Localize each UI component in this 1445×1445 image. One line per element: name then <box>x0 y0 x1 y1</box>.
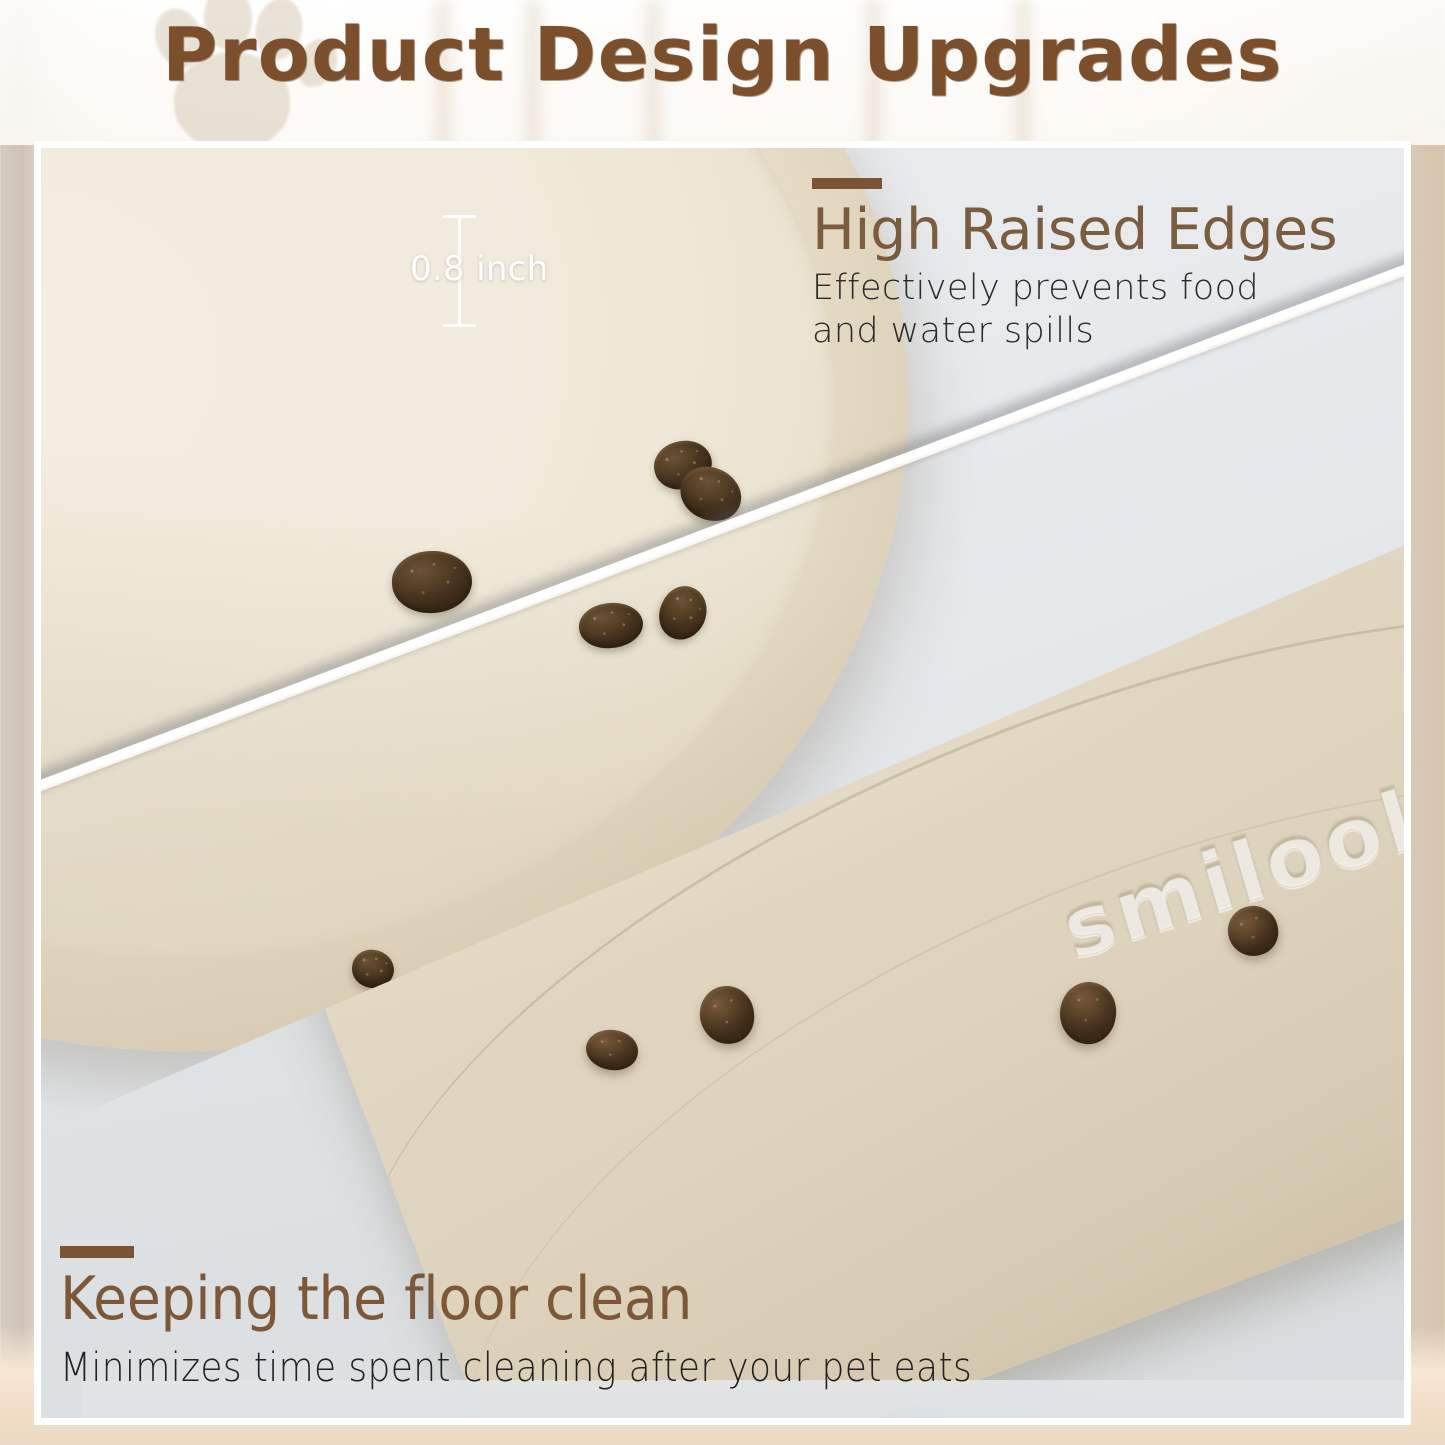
feature-high-raised-edges: High Raised Edges Effectively prevents f… <box>812 178 1412 353</box>
feature-subtitle: Minimizes time spent cleaning after your… <box>60 1344 1266 1393</box>
feature-title: Keeping the floor clean <box>60 1268 1293 1332</box>
feature-keeping-the-floor-clean: Keeping the floor clean Minimizes time s… <box>60 1246 1400 1392</box>
dimension-label: 0.8 inch <box>410 249 549 289</box>
feature-subtitle: Effectively prevents food and water spil… <box>812 267 1412 352</box>
page-title: Product Design Upgrades <box>0 18 1445 92</box>
feature-subtitle-line: Effectively prevents food <box>812 267 1412 310</box>
feature-subtitle-line: and water spills <box>812 310 1412 353</box>
dimension-cap-top <box>443 215 476 218</box>
dimension-cap-bottom <box>443 324 476 327</box>
feature-dash <box>812 178 882 189</box>
header: Product Design Upgrades <box>0 0 1445 140</box>
feature-title: High Raised Edges <box>812 200 1412 260</box>
product-infographic: Product Design Upgrades smilool <box>0 0 1445 1445</box>
feature-dash <box>60 1246 134 1258</box>
